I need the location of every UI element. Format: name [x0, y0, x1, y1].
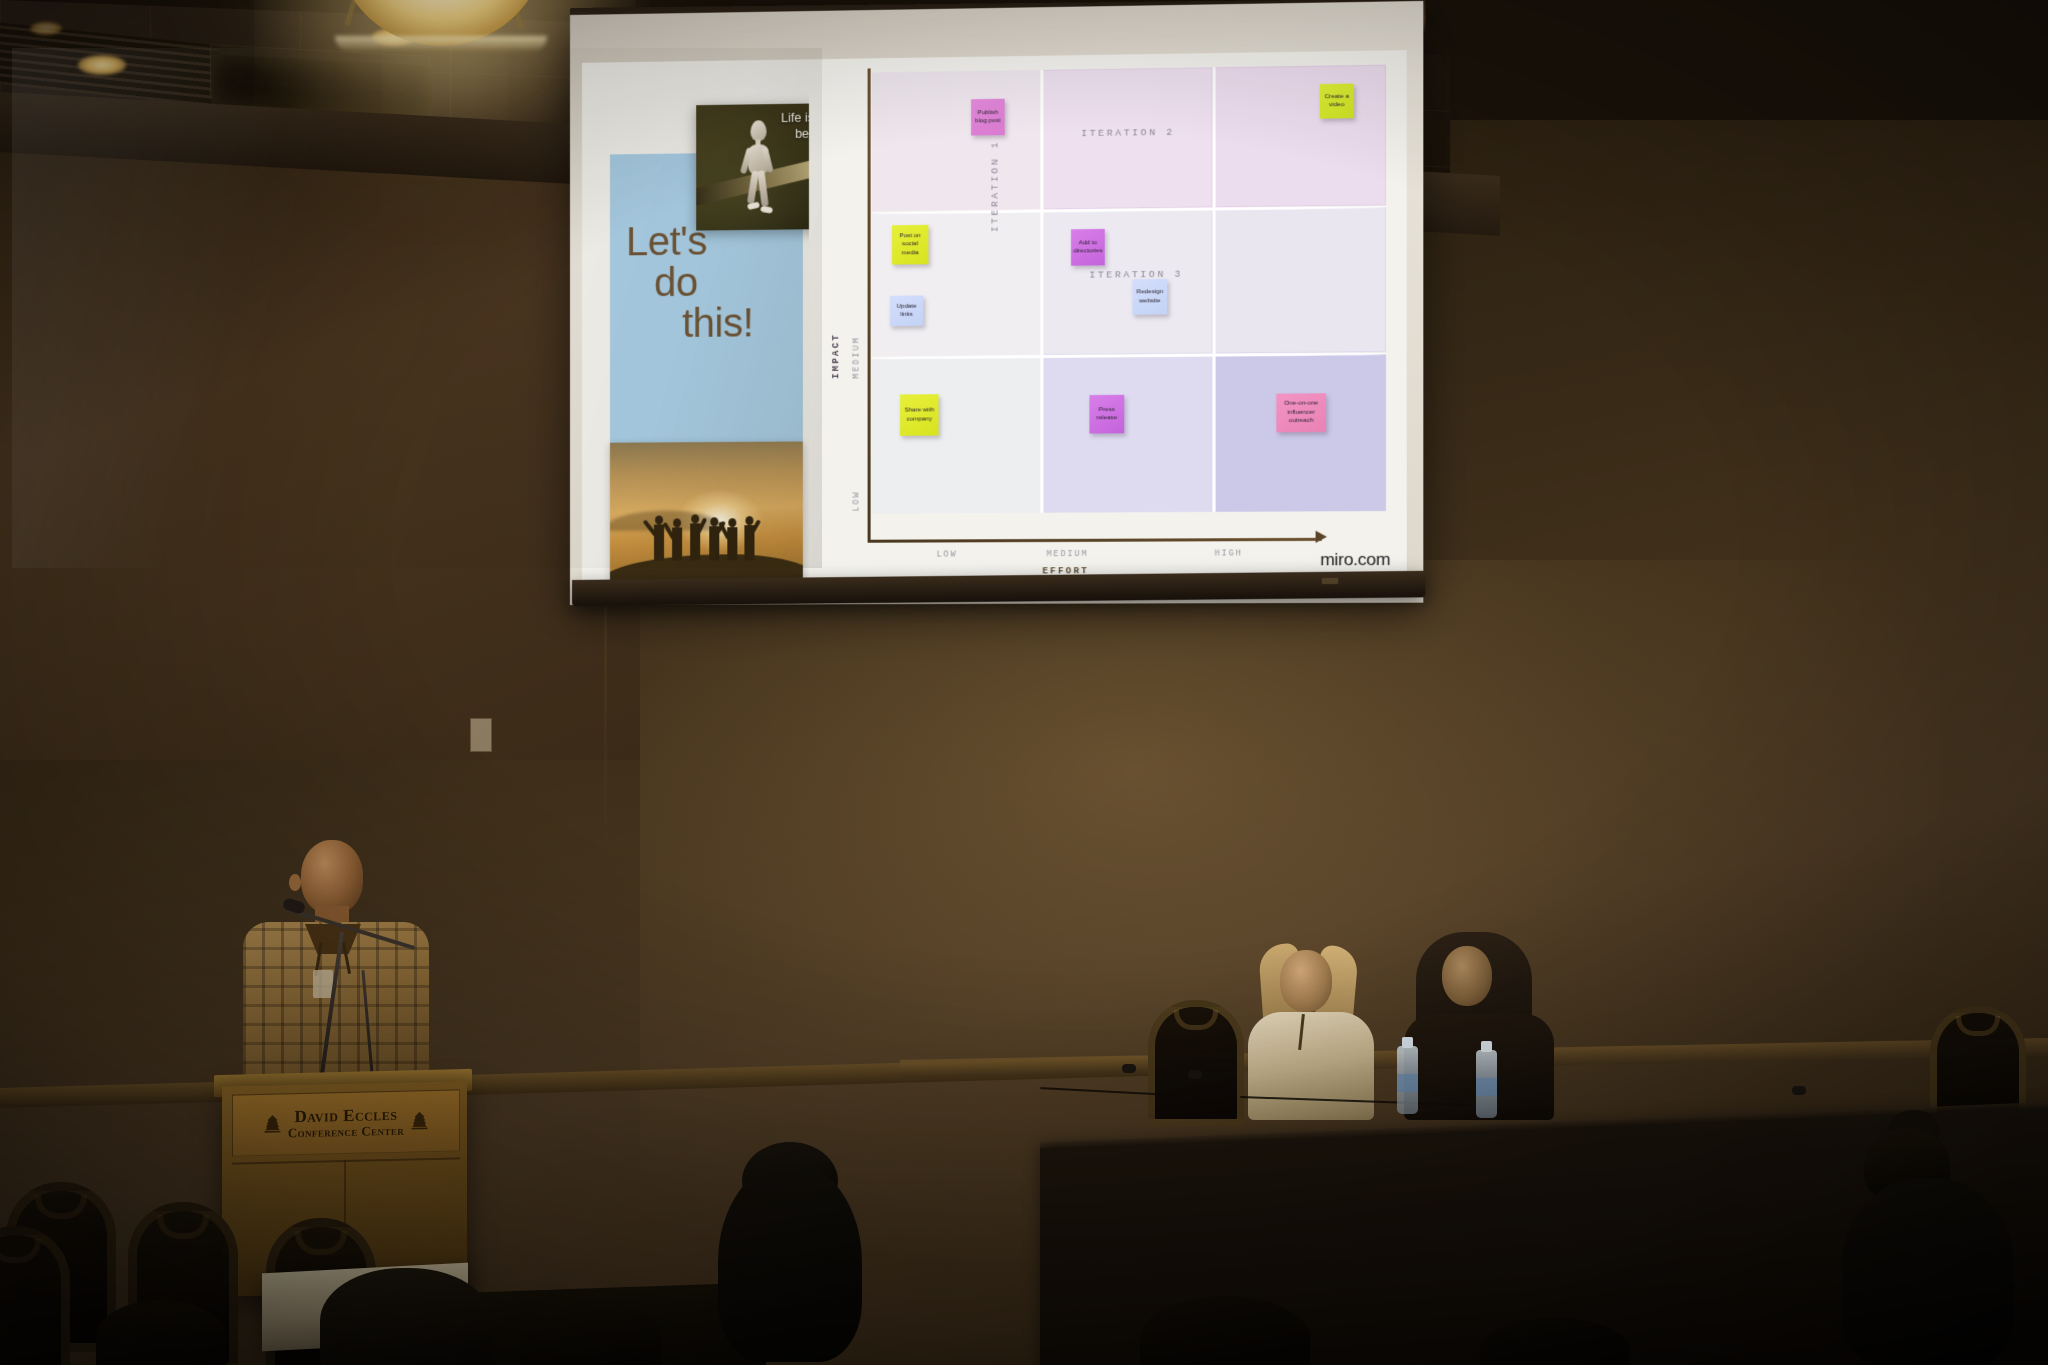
- speaker-ear: [289, 874, 301, 891]
- audience-head: [96, 1300, 226, 1365]
- pendant-rim: [335, 36, 547, 52]
- audience-head: [320, 1268, 492, 1365]
- x-axis-arrow-icon: [1316, 531, 1327, 543]
- matrix-cell: [1042, 209, 1212, 355]
- sticky-note[interactable]: Add to directories: [1071, 229, 1105, 266]
- miro-brand-label: miro.com: [1320, 550, 1390, 571]
- banquet-chair: [1148, 1000, 1244, 1126]
- sticky-note[interactable]: One-on-one influencer outreach: [1276, 393, 1326, 432]
- matrix-cell: [1215, 354, 1386, 512]
- matrix-cell: [872, 70, 1041, 212]
- left-wall: [0, 120, 640, 760]
- slide-headline: Let's do this!: [620, 220, 801, 345]
- sticky-note[interactable]: Publish blog post: [971, 99, 1005, 136]
- water-bottle: [1397, 1046, 1418, 1114]
- beehive-icon: [263, 1111, 282, 1137]
- x-tick-low: LOW: [937, 549, 958, 559]
- sticky-note[interactable]: Update links: [890, 296, 923, 327]
- grid-line: [1212, 67, 1215, 512]
- panelist-body: [1248, 1012, 1374, 1120]
- matrix-cell: [1042, 356, 1212, 513]
- water-bottle: [1476, 1050, 1497, 1118]
- x-tick-medium: MEDIUM: [1046, 549, 1088, 559]
- iteration-1-label: ITERATION 1: [989, 140, 1000, 232]
- speaker-head: [301, 840, 363, 914]
- y-axis-title: IMPACT: [831, 333, 841, 379]
- headline-line-3: this!: [682, 302, 801, 344]
- wall-thermostat: [470, 718, 492, 752]
- panelist-head: [1442, 946, 1492, 1006]
- x-axis: [868, 538, 1322, 542]
- table-microphone-icon: [1122, 1064, 1136, 1073]
- sticky-note[interactable]: Create a video: [1320, 84, 1354, 119]
- sticky-note[interactable]: Press release: [1089, 395, 1124, 434]
- projection-screen: Let's do this!: [570, 1, 1423, 605]
- effort-impact-matrix: ITERATION 1 ITERATION 2 ITERATION 3 Publ…: [809, 50, 1407, 582]
- headline-line-2: do: [654, 261, 801, 303]
- sticky-note[interactable]: Post on social media: [892, 225, 929, 265]
- person-silhouette: [709, 526, 719, 560]
- y-tick-medium: MEDIUM: [851, 336, 861, 379]
- matrix-cell: [872, 357, 1041, 514]
- person-silhouette: [654, 525, 664, 561]
- y-axis: [868, 68, 871, 541]
- sticky-note[interactable]: Redesign website: [1132, 279, 1167, 315]
- panelist-head: [1280, 950, 1332, 1012]
- matrix-grid: ITERATION 1 ITERATION 2 ITERATION 3 Publ…: [872, 65, 1386, 514]
- recessed-light-icon: [78, 55, 126, 75]
- person-silhouette: [727, 527, 737, 560]
- venue-subtitle: Conference Center: [288, 1124, 404, 1140]
- x-tick-high: HIGH: [1215, 548, 1243, 558]
- presentation-slide: Let's do this!: [582, 50, 1407, 583]
- audience-head: [1842, 1178, 2014, 1365]
- person-silhouette: [672, 527, 682, 560]
- sunset-celebration-photo: [610, 441, 803, 582]
- beehive-icon: [410, 1108, 429, 1134]
- table-microphone-icon: [1188, 1070, 1202, 1079]
- table-microphone-icon: [1792, 1086, 1806, 1095]
- iteration-2-label: ITERATION 2: [1081, 127, 1175, 139]
- speaker-name-badge: [313, 970, 333, 998]
- grid-line: [1040, 70, 1043, 513]
- matrix-cell: [1215, 65, 1386, 208]
- person-silhouette: [744, 525, 754, 560]
- podium-sign: David Eccles Conference Center: [232, 1089, 460, 1156]
- panelist-person: [1240, 950, 1380, 1120]
- audience-head: [718, 1162, 862, 1362]
- sticky-note[interactable]: Share with company: [900, 394, 939, 436]
- person-silhouette: [690, 523, 700, 560]
- conference-room-photo: Let's do this!: [0, 0, 2048, 1365]
- y-tick-low: LOW: [851, 490, 861, 511]
- matrix-cell: [1215, 207, 1386, 353]
- podium-sign-text: David Eccles Conference Center: [288, 1106, 404, 1140]
- recessed-light-icon: [30, 22, 62, 35]
